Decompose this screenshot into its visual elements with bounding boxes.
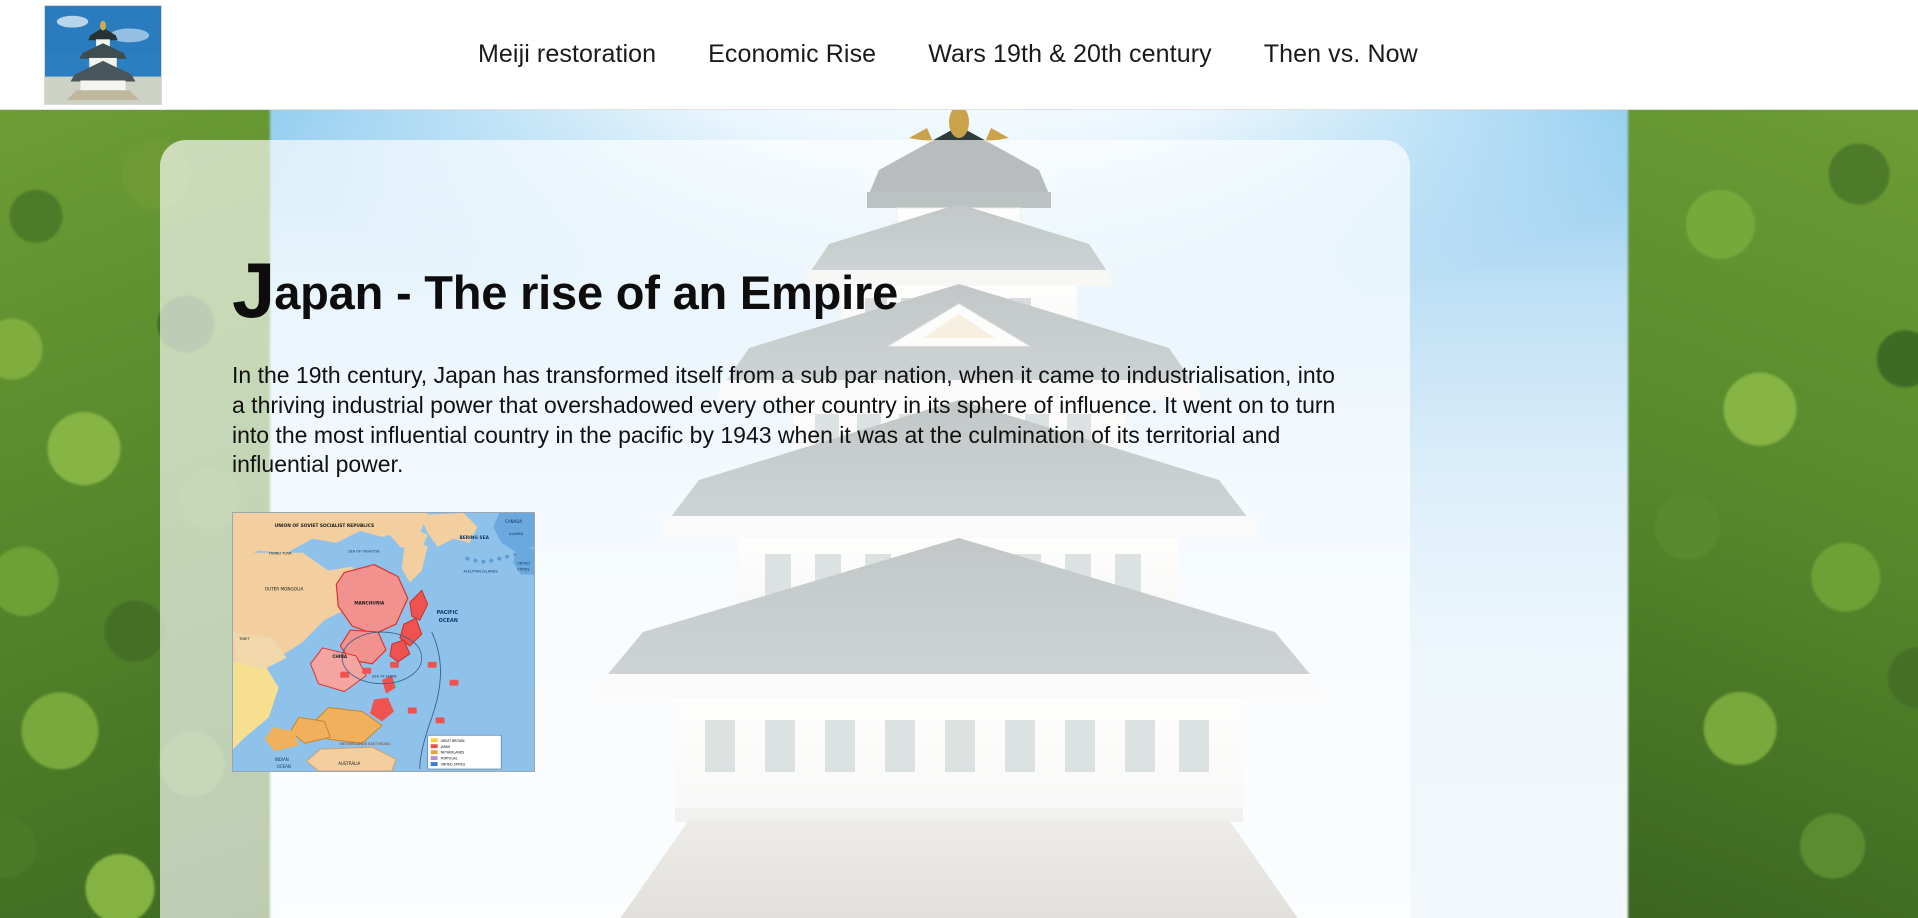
svg-text:OCEAN: OCEAN xyxy=(277,764,291,769)
svg-text:INDIAN: INDIAN xyxy=(275,757,289,762)
nav-link-then-vs-now[interactable]: Then vs. Now xyxy=(1238,30,1444,79)
nav-link-wars-19th-20th-century[interactable]: Wars 19th & 20th century xyxy=(902,30,1238,79)
svg-text:STATES: STATES xyxy=(517,568,529,572)
svg-text:TIBET: TIBET xyxy=(238,637,250,641)
svg-text:CANADA: CANADA xyxy=(505,519,522,524)
svg-text:NETHERLANDS: NETHERLANDS xyxy=(441,751,465,755)
svg-text:AUSTRALIA: AUSTRALIA xyxy=(338,761,360,766)
svg-text:JAPAN: JAPAN xyxy=(440,745,451,749)
top-navigation-bar: Meiji restoration Economic Rise Wars 19t… xyxy=(0,0,1918,110)
svg-text:GREAT BRITAIN: GREAT BRITAIN xyxy=(441,739,466,743)
svg-text:MANCHURIA: MANCHURIA xyxy=(354,600,385,606)
svg-text:UNION OF SOVIET SOCIALIST REPU: UNION OF SOVIET SOCIALIST REPUBLICS xyxy=(275,523,374,529)
nav-link-economic-rise[interactable]: Economic Rise xyxy=(682,30,902,79)
svg-text:NETHERLANDS EAST INDIES: NETHERLANDS EAST INDIES xyxy=(340,742,391,746)
map-legend: GREAT BRITAIN JAPAN NETHERLANDS PORTUGAL… xyxy=(428,735,502,769)
svg-text:PORTUGAL: PORTUGAL xyxy=(441,757,458,761)
svg-text:SEA OF OKHOTSK: SEA OF OKHOTSK xyxy=(348,550,380,554)
svg-text:TANNU TUVA: TANNU TUVA xyxy=(268,552,292,556)
hero-content-card: Japan - The rise of an Empire In the 19t… xyxy=(160,140,1410,918)
svg-text:OCEAN: OCEAN xyxy=(439,618,458,624)
svg-text:CHINA: CHINA xyxy=(332,654,348,659)
nav-link-meiji-restoration[interactable]: Meiji restoration xyxy=(452,30,682,79)
page-root: Meiji restoration Economic Rise Wars 19t… xyxy=(0,0,1918,918)
svg-text:BERING SEA: BERING SEA xyxy=(459,535,489,541)
svg-text:PACIFIC: PACIFIC xyxy=(437,610,459,616)
nav-links: Meiji restoration Economic Rise Wars 19t… xyxy=(452,30,1444,79)
svg-text:UNITED: UNITED xyxy=(517,562,530,566)
page-title: Japan - The rise of an Empire xyxy=(232,258,1338,317)
hero-content-inner: Japan - The rise of an Empire In the 19t… xyxy=(160,140,1410,772)
svg-text:OUTER MONGOLIA: OUTER MONGOLIA xyxy=(265,586,304,591)
svg-text:ALEUTIAN ISLANDS: ALEUTIAN ISLANDS xyxy=(463,570,498,574)
page-title-rest: apan - The rise of an Empire xyxy=(274,266,898,319)
foliage-right xyxy=(1628,90,1918,918)
page-title-dropcap: J xyxy=(232,246,275,334)
pacific-theatre-map[interactable]: UNION OF SOVIET SOCIALIST REPUBLICS OUTE… xyxy=(232,512,535,772)
site-logo[interactable] xyxy=(44,5,162,105)
svg-text:SEA OF JAPAN: SEA OF JAPAN xyxy=(372,675,397,679)
hero-paragraph: In the 19th century, Japan has transform… xyxy=(232,361,1338,480)
svg-text:ALASKA: ALASKA xyxy=(509,532,523,536)
svg-text:UNITED STATES: UNITED STATES xyxy=(441,763,465,767)
